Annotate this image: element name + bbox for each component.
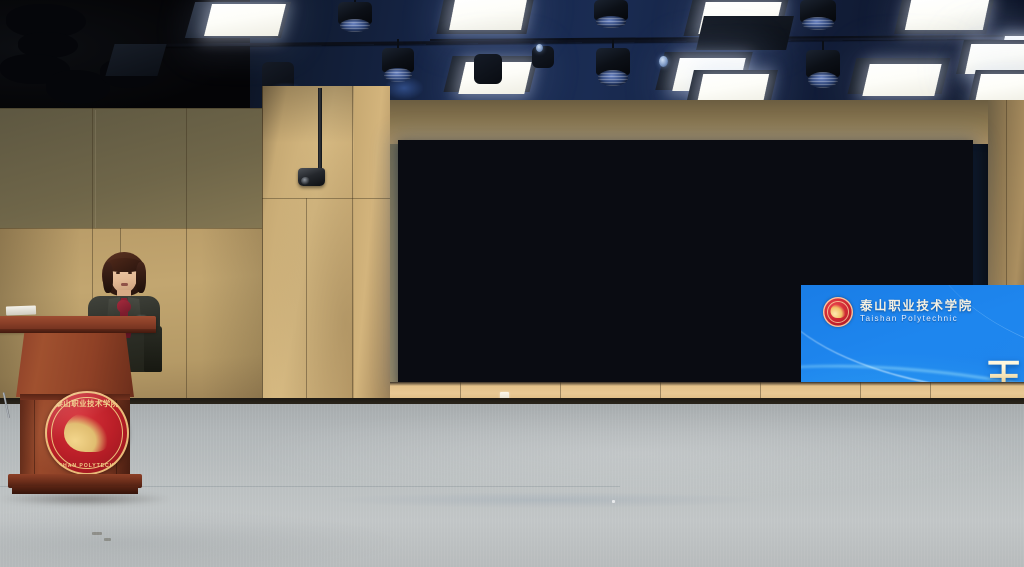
wall-panel-seam bbox=[352, 86, 353, 403]
stage-spotlight bbox=[800, 0, 836, 30]
ceiling-panel-light bbox=[449, 0, 527, 30]
presenter-mouth bbox=[121, 283, 128, 286]
wall-panel-seam bbox=[0, 228, 268, 229]
wall-panel-seam bbox=[306, 198, 307, 403]
podium-document bbox=[6, 305, 36, 315]
led-video-wall-bezel: 泰山职业技术学院 Taishan Polytechnic 王 爱 峰 山东众客产… bbox=[398, 140, 973, 384]
logo-text-block: 泰山职业技术学院 Taishan Polytechnic bbox=[860, 300, 973, 323]
presenter-hair-side bbox=[103, 262, 113, 293]
ceiling-panel-light bbox=[862, 64, 941, 96]
light-panel-housing bbox=[105, 44, 166, 76]
wall-panel-seam bbox=[262, 198, 390, 199]
crest-flame-emblem bbox=[831, 304, 846, 318]
taishan-crest-icon bbox=[823, 297, 853, 327]
seal-gloss bbox=[45, 391, 129, 475]
podium: 泰山职业技术学院 TAISHAN POLYTECHNIC bbox=[0, 316, 156, 498]
presenter-eye bbox=[116, 272, 120, 274]
slide-institution-logo: 泰山职业技术学院 Taishan Polytechnic bbox=[823, 297, 973, 327]
taishan-seal-icon: 泰山职业技术学院 TAISHAN POLYTECHNIC bbox=[45, 391, 129, 475]
ceiling-indicator-light bbox=[536, 44, 543, 52]
podium-top-edge bbox=[0, 329, 156, 333]
stage-spotlight bbox=[594, 0, 628, 28]
wall-panel-seam bbox=[0, 108, 268, 109]
podium-upper-body bbox=[16, 333, 134, 397]
ceiling-panel-light bbox=[905, 0, 989, 30]
ceiling-panel-light bbox=[975, 74, 1024, 102]
floor-debris bbox=[104, 538, 111, 541]
ceiling-mounted-camera bbox=[298, 168, 325, 186]
conference-hall-scene: 泰山职业技术学院 Taishan Polytechnic 王 爱 峰 山东众客产… bbox=[0, 0, 1024, 567]
spotlight-lens bbox=[802, 17, 834, 30]
floor-light-reflection bbox=[330, 492, 760, 508]
ceiling-indicator-light bbox=[659, 56, 668, 67]
wall-column-side bbox=[354, 86, 390, 403]
ceiling-mount-pole bbox=[318, 88, 322, 174]
spotlight-lens bbox=[596, 16, 626, 28]
podium-panel-seam bbox=[34, 400, 35, 478]
wall-panel-seam bbox=[186, 108, 187, 403]
wall-panel-seam bbox=[262, 86, 263, 403]
podium-floor-shadow bbox=[0, 492, 170, 506]
light-panel-housing bbox=[696, 16, 794, 50]
presenter-hair-side bbox=[136, 262, 146, 293]
logo-name-en: Taishan Polytechnic bbox=[860, 315, 973, 323]
upper-wall-above-screen bbox=[390, 100, 1024, 144]
floor-debris bbox=[92, 532, 102, 535]
stage-spotlight bbox=[806, 50, 840, 88]
spotlight-lens bbox=[340, 19, 370, 32]
stage-spotlight-dim bbox=[474, 54, 502, 84]
floor-debris bbox=[612, 500, 615, 503]
logo-name-cn: 泰山职业技术学院 bbox=[860, 300, 973, 313]
podium-foot bbox=[12, 486, 138, 494]
spotlight-blue-glow bbox=[384, 76, 424, 100]
stage-spotlight bbox=[338, 2, 372, 32]
wall-panel-highlight bbox=[95, 110, 96, 228]
spotlight-lens bbox=[598, 70, 628, 86]
stage-spotlight bbox=[596, 48, 630, 86]
gooseneck-microphone-secondary[interactable] bbox=[3, 392, 10, 418]
presenter-scarf-knot bbox=[117, 300, 131, 313]
presenter-eye bbox=[128, 272, 132, 274]
ceiling-panel-light bbox=[204, 4, 286, 36]
spotlight-lens bbox=[808, 72, 838, 88]
